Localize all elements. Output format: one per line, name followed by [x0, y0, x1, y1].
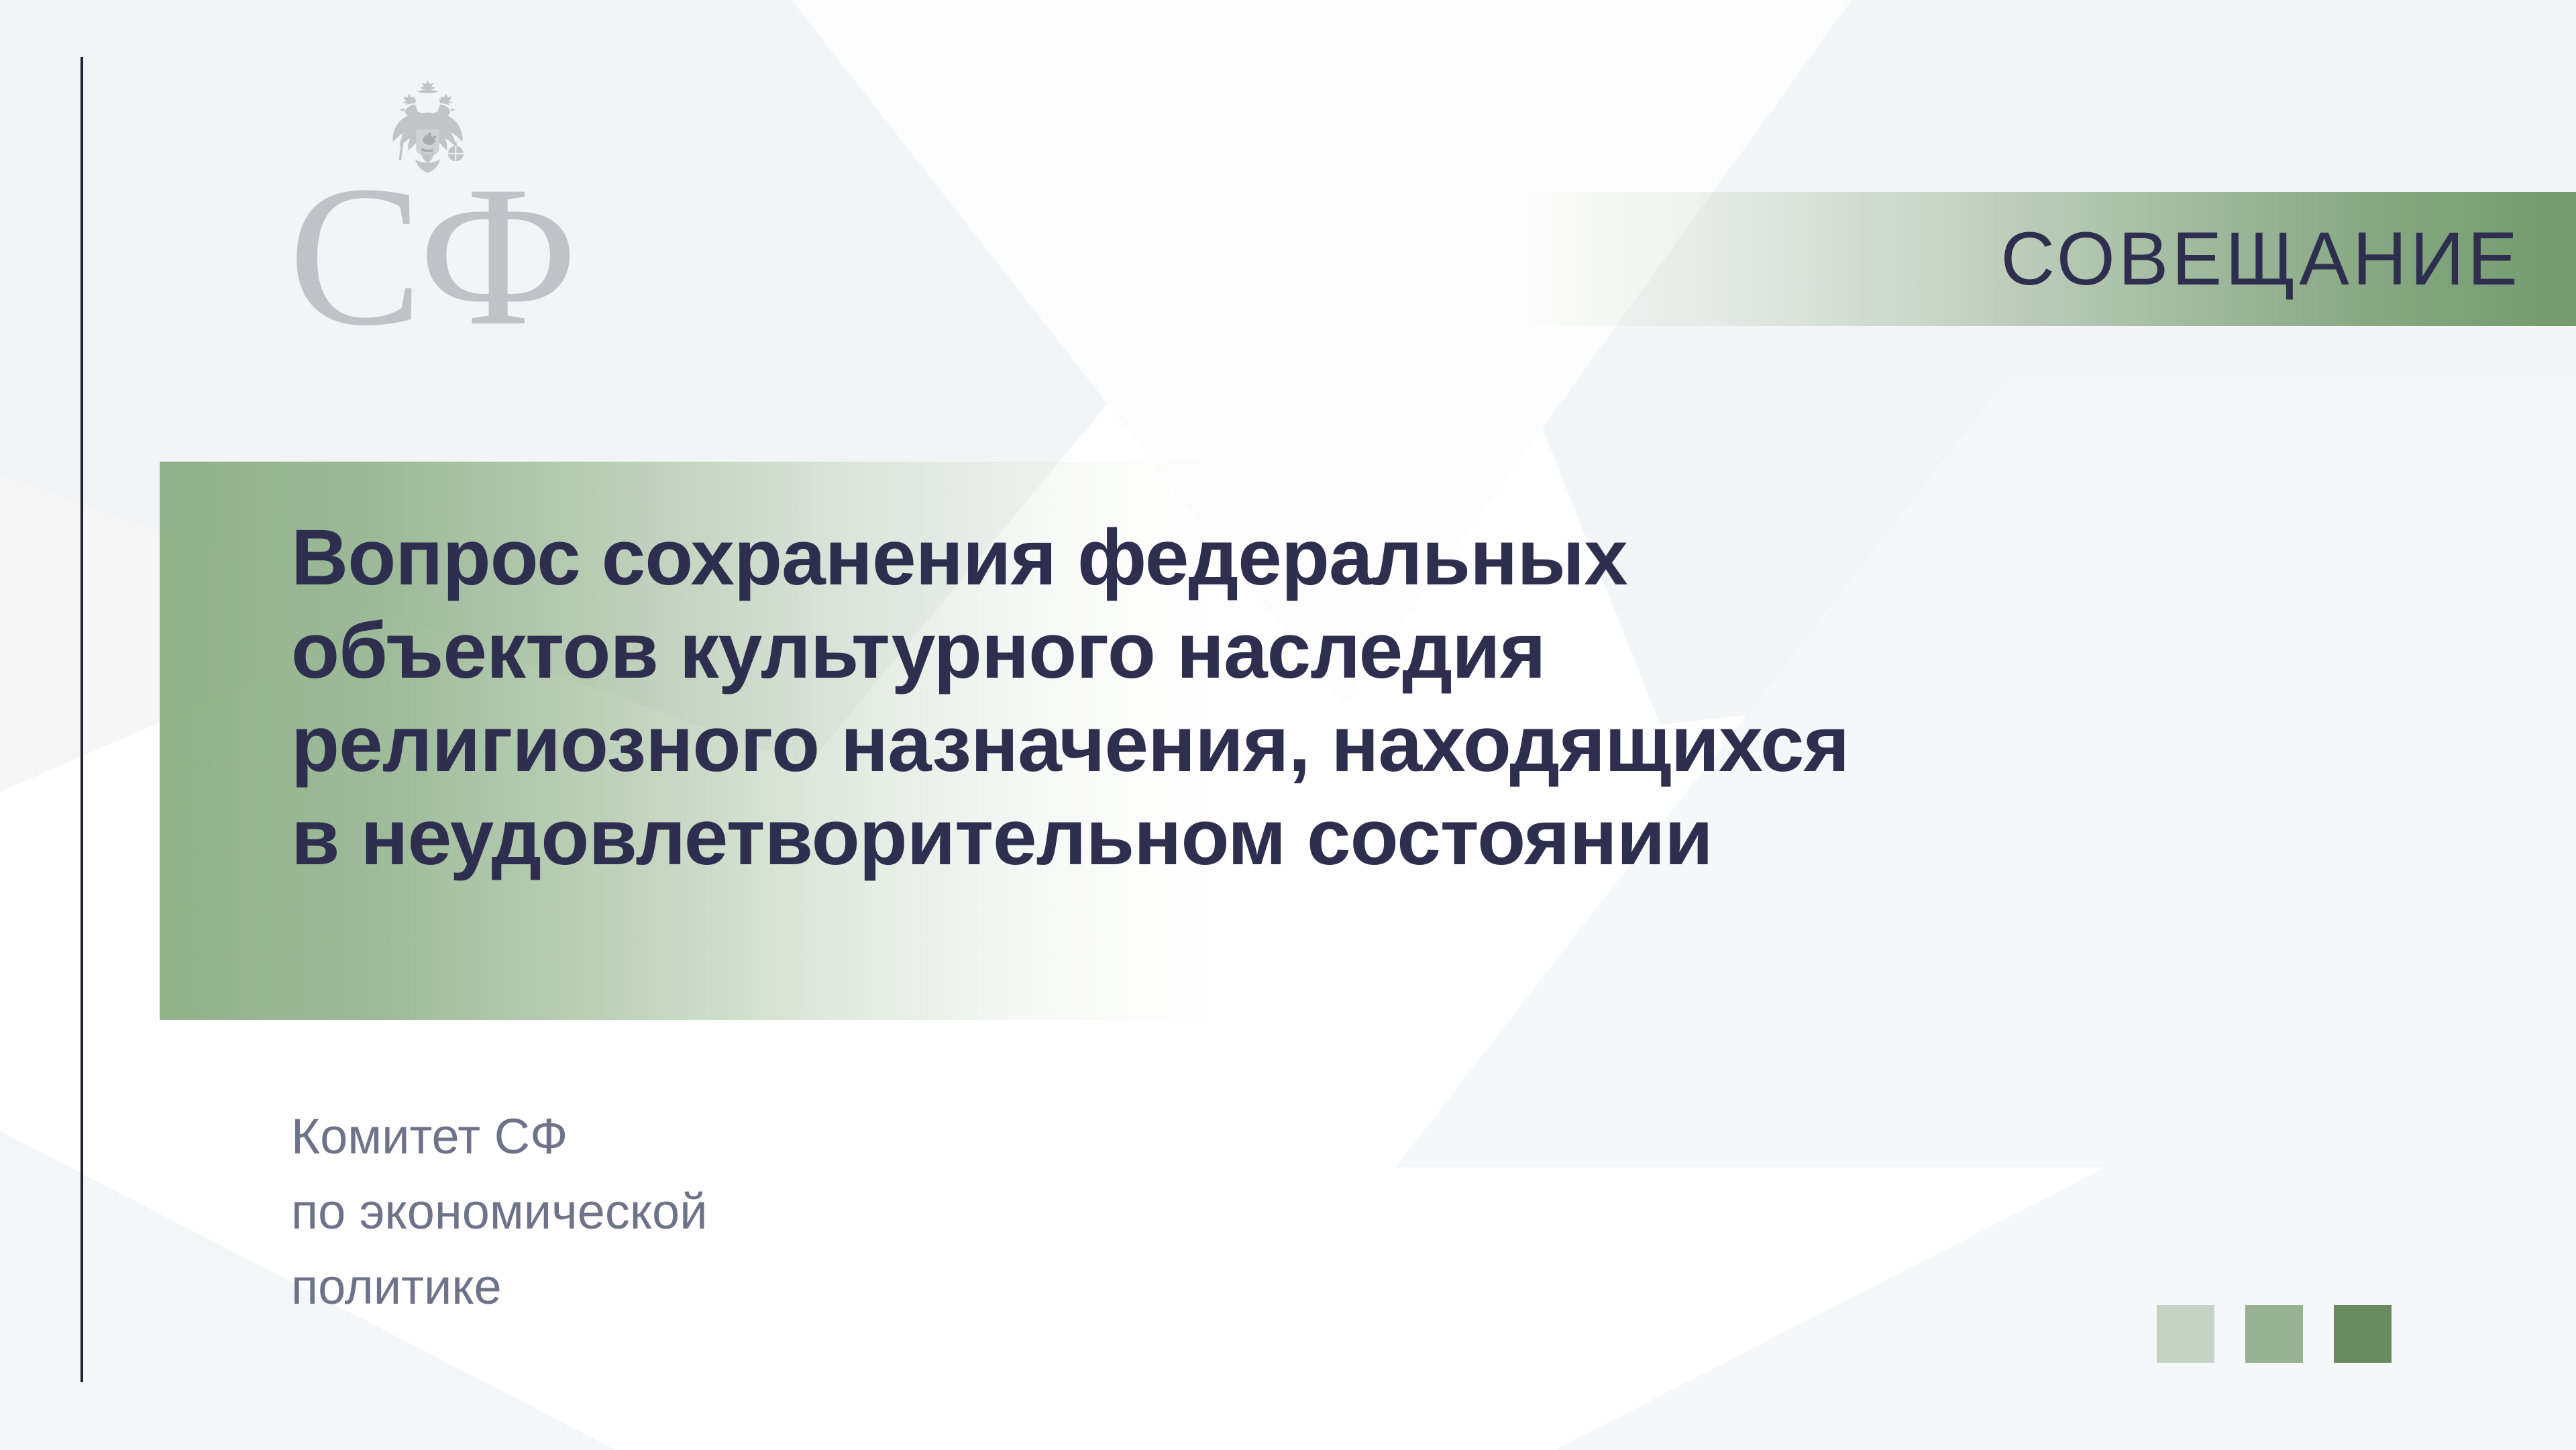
subtitle: Комитет СФ по экономической политике [291, 1099, 708, 1325]
title-line-2: объектов культурного наследия [291, 605, 2518, 698]
logo-letters: СФ [288, 183, 624, 328]
subtitle-line-2: по экономической [291, 1174, 708, 1249]
logo-block: СФ [288, 77, 624, 328]
page-title: Вопрос сохранения федеральных объектов к… [291, 511, 2518, 884]
swatch-light [2157, 1305, 2214, 1363]
swatch-medium [2245, 1305, 2303, 1363]
background-bottom-right-wedge [1489, 927, 2576, 1450]
header-label: СОВЕЩАНИЕ [2000, 193, 2521, 325]
left-vertical-rule [80, 57, 83, 1382]
title-line-4: в неудовлетворительном состоянии [291, 791, 2518, 884]
swatch-dark [2334, 1305, 2392, 1363]
title-slide: СФ СОВЕЩАНИЕ Вопрос сохранения федеральн… [0, 0, 2576, 1450]
title-line-1: Вопрос сохранения федеральных [291, 511, 2518, 605]
subtitle-line-3: политике [291, 1249, 708, 1325]
subtitle-line-1: Комитет СФ [291, 1099, 708, 1174]
swatch-row [2157, 1305, 2392, 1363]
title-line-3: религиозного назначения, находящихся [291, 698, 2518, 791]
